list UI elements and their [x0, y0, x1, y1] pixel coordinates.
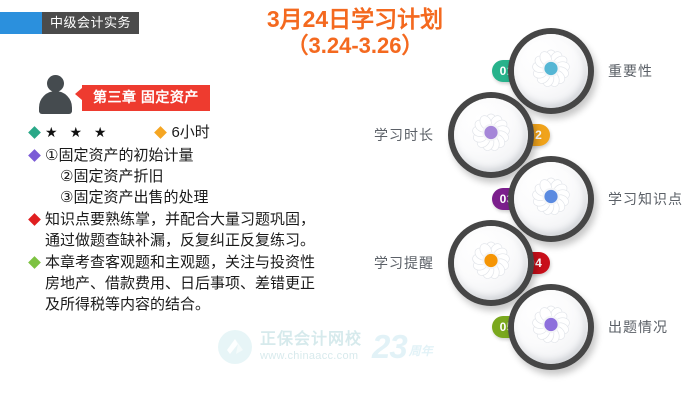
diamond-bullet-icon [28, 256, 41, 269]
note-row-rating: ★ ★ ★ 6小时 [30, 122, 360, 145]
watermark: 正保会计网校 www.chinaacc.com 23 周年 [218, 330, 433, 364]
subject-tag-accent [0, 12, 42, 34]
practice-line: 知识点要熟练掌，并配合大量习题巩固， [45, 209, 315, 230]
node-label: 重要性 [608, 61, 653, 81]
topic-line: ③固定资产出售的处理 [45, 187, 208, 208]
watermark-url: www.chinaacc.com [260, 350, 362, 363]
node-label: 学习时长 [374, 125, 434, 145]
practice-line: 通过做题查缺补漏，反复纠正反复练习。 [45, 230, 315, 251]
exam-line: 本章考查客观题和主观题，关注与投资性 [45, 252, 315, 273]
flower-icon [467, 109, 515, 162]
chapter-ribbon: 第三章 固定资产 [82, 85, 210, 111]
exam-line: 及所得税等内容的结合。 [45, 294, 315, 315]
process-diagram: 01重要性02学习时长03学习知识点04学习提醒05出题情况 [420, 0, 700, 405]
chapter-header: 第三章 固定资产 [36, 74, 210, 114]
node-label: 学习提醒 [374, 253, 434, 273]
node-label: 学习知识点 [608, 189, 683, 209]
flower-icon [527, 45, 575, 98]
avatar-head [47, 75, 64, 92]
anniversary-number: 23 [372, 332, 407, 362]
user-avatar-icon [36, 74, 74, 114]
subject-tag-label: 中级会计实务 [42, 12, 139, 34]
topic-line: ①固定资产的初始计量 [45, 145, 208, 166]
note-stars-group: ★ ★ ★ [30, 122, 110, 143]
book-logo-icon [218, 330, 252, 364]
diamond-bullet-icon [28, 126, 41, 139]
note-hours-group: 6小时 [156, 122, 209, 143]
watermark-text: 正保会计网校 www.chinaacc.com [260, 331, 362, 362]
node-label: 出题情况 [608, 317, 668, 337]
flower-icon [527, 301, 575, 354]
topic-line: ②固定资产折旧 [45, 166, 208, 187]
avatar-body [39, 91, 72, 114]
note-row-topics: ①固定资产的初始计量 ②固定资产折旧 ③固定资产出售的处理 [30, 145, 360, 208]
diamond-bullet-icon [28, 213, 41, 226]
watermark-brand: 正保会计网校 [260, 331, 362, 349]
flower-icon [527, 173, 575, 226]
flower-icon [467, 237, 515, 290]
difficulty-stars: ★ ★ ★ [45, 122, 110, 143]
study-notes: ★ ★ ★ 6小时 ①固定资产的初始计量 ②固定资产折旧 ③固定资产出售的处理 … [30, 122, 360, 316]
note-row-practice: 知识点要熟练掌，并配合大量习题巩固， 通过做题查缺补漏，反复纠正反复练习。 [30, 209, 360, 251]
diagram-node-05[interactable]: 05出题情况 [508, 284, 594, 370]
study-hours: 6小时 [171, 122, 209, 143]
slide-canvas: 中级会计实务 3月24日学习计划 （3.24-3.26） 第三章 固定资产 ★ … [0, 0, 700, 405]
note-row-exam: 本章考查客观题和主观题，关注与投资性 房地产、借款费用、日后事项、差错更正 及所… [30, 252, 360, 315]
diamond-bullet-icon [155, 126, 168, 139]
diamond-bullet-icon [28, 149, 41, 162]
subject-tag: 中级会计实务 [0, 12, 139, 34]
exam-line: 房地产、借款费用、日后事项、差错更正 [45, 273, 315, 294]
